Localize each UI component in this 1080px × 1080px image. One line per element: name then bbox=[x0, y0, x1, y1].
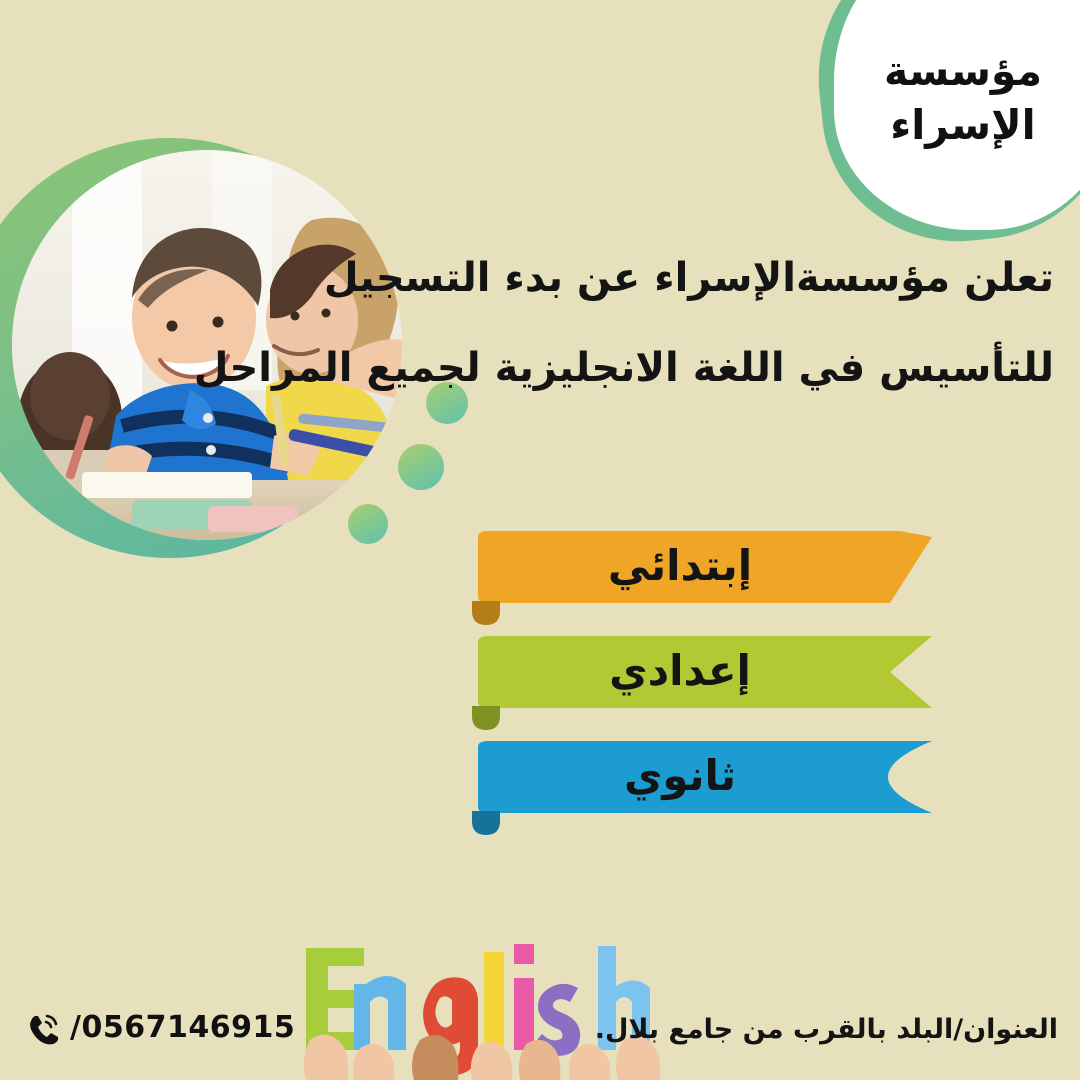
address-text: العنوان/البلد بالقرب من جامع بلال. bbox=[595, 1014, 1058, 1045]
ribbon-preparatory[interactable]: إعدادي bbox=[470, 636, 932, 708]
ribbon-fold-tab bbox=[472, 811, 500, 835]
decorative-dot bbox=[398, 444, 444, 490]
phone-contact[interactable]: /0567146915 bbox=[26, 1010, 295, 1045]
decorative-dot bbox=[348, 504, 388, 544]
badge-title-line2: الإسراء bbox=[890, 98, 1035, 152]
ribbon-primary[interactable]: إبتدائي bbox=[470, 531, 932, 603]
stage-ribbon-list: إبتدائي إعدادي bbox=[470, 531, 932, 846]
poster-canvas: مؤسسة الإسراء تعلن مؤسسةالإسراء عن بدء ا… bbox=[0, 0, 1080, 1080]
headline-text: تعلن مؤسسةالإسراء عن بدء التسجيل للتأسيس… bbox=[434, 258, 1054, 388]
headline-line-2: للتأسيس في اللغة الانجليزية لجميع المراح… bbox=[434, 348, 1054, 388]
ribbon-fold-tab bbox=[472, 601, 500, 625]
badge-title-line1: مؤسسة bbox=[884, 44, 1042, 98]
phone-ringing-icon bbox=[26, 1011, 60, 1045]
phone-number: /0567146915 bbox=[70, 1010, 295, 1045]
logo-badge: مؤسسة الإسراء bbox=[820, 0, 1080, 240]
ribbon-secondary[interactable]: ثانوي bbox=[470, 741, 932, 813]
ribbon-label: إعدادي bbox=[470, 636, 890, 708]
headline-line-1: تعلن مؤسسةالإسراء عن بدء التسجيل bbox=[434, 258, 1054, 298]
ribbon-label: ثانوي bbox=[470, 741, 890, 813]
english-letters-photo bbox=[288, 928, 660, 1080]
ribbon-label: إبتدائي bbox=[470, 531, 890, 603]
ribbon-fold-tab bbox=[472, 706, 500, 730]
